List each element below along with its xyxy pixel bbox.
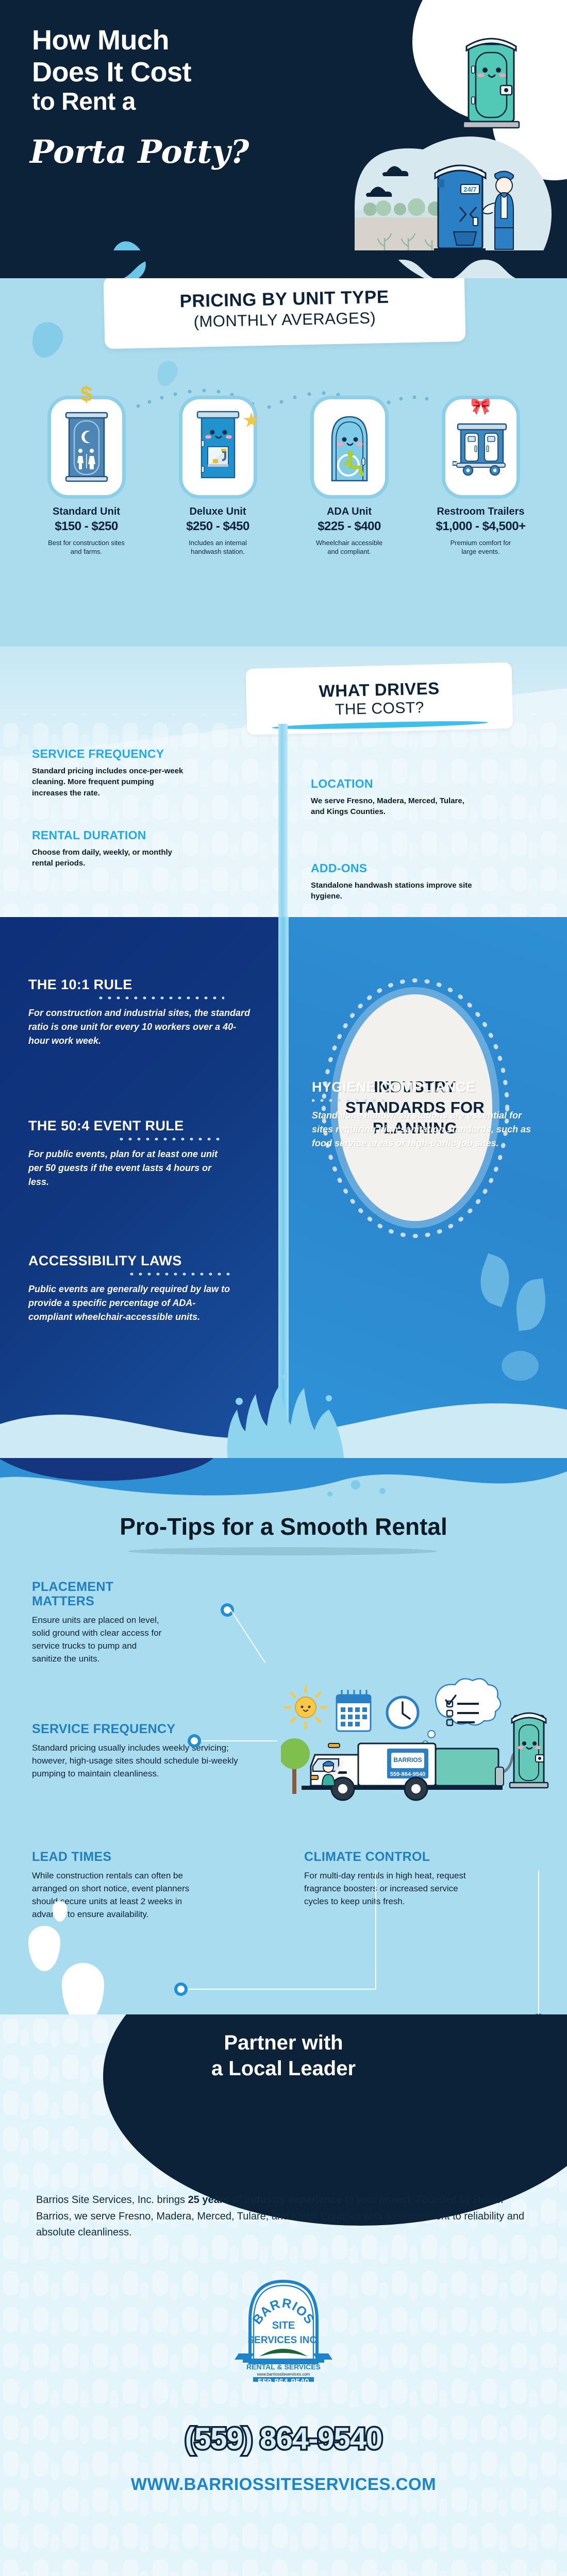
unit-card-ada[interactable]: ADA Unit $225 - $400 Wheelchair accessib… bbox=[286, 396, 412, 556]
cost-driver-title: SERVICE FREQUENCY bbox=[32, 747, 187, 761]
center-pole-decor bbox=[278, 724, 288, 917]
unit-description: Premium comfort for large events. bbox=[442, 538, 520, 556]
company-logo: BARRIOS SITE SERVICES INC. RENTAL & SERV… bbox=[229, 2271, 338, 2384]
unit-price: $1,000 - $4,500+ bbox=[436, 519, 525, 534]
partner-section: Partner with a Local Leader Barrios Site… bbox=[0, 2014, 567, 2576]
standard-title: THE 50:4 EVENT RULE bbox=[28, 1118, 235, 1134]
cost-drivers-section: WHAT DRIVES THE COST? SERVICE FREQUENCY … bbox=[0, 647, 567, 917]
pro-tip-climate-control: CLIMATE CONTROL For multi-day rentals in… bbox=[304, 1850, 479, 1908]
partner-body-bold: 25 years of industry experience bbox=[188, 2194, 342, 2206]
unit-description: Best for construction sites and farms. bbox=[48, 538, 125, 556]
star-icon: ★ bbox=[242, 409, 261, 432]
porta-potty-teal-icon bbox=[460, 30, 522, 133]
website-link[interactable]: WWW.BARRIOSSITESERVICES.COM bbox=[0, 2475, 567, 2494]
clock-icon bbox=[387, 1697, 418, 1728]
standard-title: ACCESSIBILITY LAWS bbox=[28, 1253, 235, 1269]
partner-heading-line1: Partner with bbox=[224, 2031, 343, 2054]
standard-50-4-event-rule: THE 50:4 EVENT RULE For public events, p… bbox=[28, 1118, 235, 1189]
industry-standards-section: INDUSTRY STANDARDS FOR PLANNING THE 10:1… bbox=[0, 917, 567, 1458]
cost-driver-title: ADD-ONS bbox=[311, 861, 481, 875]
green-porta-potty-icon bbox=[495, 1713, 548, 1788]
unit-name: Restroom Trailers bbox=[437, 506, 524, 518]
cost-drivers-heading-line1: WHAT DRIVES bbox=[319, 679, 440, 701]
cost-drivers-heading-line2: THE COST? bbox=[335, 699, 425, 718]
protips-top-bubbles-decor bbox=[0, 1458, 567, 1516]
unit-tile-ada bbox=[310, 396, 389, 499]
connector-dot-service bbox=[188, 1734, 201, 1748]
unit-description: Wheelchair accessible and compliant. bbox=[311, 538, 388, 556]
partner-body-part1: Barrios Site Services, Inc. brings bbox=[36, 2194, 188, 2206]
pricing-heading-card: PRICING BY UNIT TYPE (MONTHLY AVERAGES) bbox=[104, 278, 466, 349]
service-truck-scene-illustration: BARRIOS 559-864-9540 bbox=[281, 1648, 549, 1807]
page-title: How Much Does It Cost to Rent a bbox=[32, 25, 352, 116]
water-splash-decor bbox=[222, 1365, 351, 1458]
svg-text:24/7: 24/7 bbox=[463, 185, 476, 193]
sun-icon bbox=[285, 1687, 326, 1728]
standard-body: For construction and industrial sites, t… bbox=[28, 1006, 255, 1048]
unit-card-standard[interactable]: $ Standard Unit $150 - $250 Best for con… bbox=[23, 396, 149, 556]
drop-decor-1 bbox=[27, 318, 67, 362]
unit-card-trailers[interactable]: 🎀 bbox=[418, 396, 544, 556]
cost-driver-body: We serve Fresno, Madera, Merced, Tulare,… bbox=[311, 795, 476, 818]
dotted-rule-decor bbox=[28, 1273, 235, 1276]
dollar-icon: $ bbox=[80, 382, 92, 406]
unit-tile-standard: $ bbox=[47, 396, 126, 499]
partner-body-text: Barrios Site Services, Inc. brings 25 ye… bbox=[36, 2192, 531, 2241]
logo-line-4: RENTAL & SERVICES bbox=[246, 2363, 321, 2371]
heading-shadow-decor bbox=[128, 1547, 437, 1555]
cost-driver-location: LOCATION We serve Fresno, Madera, Merced… bbox=[311, 777, 476, 818]
service-truck-icon: BARRIOS 559-864-9540 bbox=[302, 1743, 503, 1800]
pro-tip-title: LEAD TIMES bbox=[32, 1850, 202, 1864]
infographic-page: How Much Does It Cost to Rent a Porta Po… bbox=[0, 0, 567, 2576]
standard-10-1-rule: THE 10:1 RULE For construction and indus… bbox=[28, 977, 255, 1048]
deluxe-unit-icon bbox=[193, 409, 243, 486]
partner-heading-line2: a Local Leader bbox=[211, 2057, 356, 2080]
dotted-rule-decor bbox=[28, 996, 224, 999]
barrios-logo-icon: BARRIOS SITE SERVICES INC. RENTAL & SERV… bbox=[229, 2271, 338, 2382]
pro-tip-title: PLACEMENT MATTERS bbox=[32, 1580, 169, 1608]
pricing-section: PRICING BY UNIT TYPE (MONTHLY AVERAGES) bbox=[0, 278, 567, 647]
cost-driver-title: RENTAL DURATION bbox=[32, 828, 176, 842]
logo-line-3: SERVICES INC. bbox=[247, 2335, 319, 2346]
truck-phone-label: 559-864-9540 bbox=[390, 1771, 426, 1777]
calendar-icon bbox=[337, 1690, 371, 1731]
pro-tips-heading: Pro-Tips for a Smooth Rental bbox=[0, 1513, 567, 1540]
pro-tip-title: CLIMATE CONTROL bbox=[304, 1850, 479, 1864]
standard-accessibility-laws: ACCESSIBILITY LAWS Public events are gen… bbox=[28, 1253, 235, 1324]
standard-title: THE 10:1 RULE bbox=[28, 977, 255, 993]
dotted-rule-decor bbox=[312, 1099, 415, 1102]
cost-driver-add-ons: ADD-ONS Standalone handwash stations imp… bbox=[311, 861, 481, 902]
pricing-heading-line1: PRICING BY UNIT TYPE bbox=[179, 287, 389, 312]
standard-unit-icon bbox=[62, 409, 111, 486]
cost-driver-body: Standard pricing includes once-per-week … bbox=[32, 766, 187, 799]
title-line-2: Does It Cost bbox=[32, 57, 352, 89]
cost-driver-body: Choose from daily, weekly, or monthly re… bbox=[32, 847, 176, 869]
unit-name: ADA Unit bbox=[327, 506, 372, 518]
unit-tile-deluxe: ★ bbox=[179, 396, 257, 499]
pro-tip-placement-matters: PLACEMENT MATTERS Ensure units are place… bbox=[32, 1580, 169, 1666]
unit-price: $225 - $400 bbox=[318, 519, 381, 534]
title-line-3: to Rent a bbox=[32, 88, 352, 116]
cost-driver-rental-duration: RENTAL DURATION Choose from daily, weekl… bbox=[32, 828, 176, 869]
heading-underline-decor bbox=[272, 720, 488, 731]
cost-driver-body: Standalone handwash stations improve sit… bbox=[311, 880, 481, 902]
pro-tips-section: Pro-Tips for a Smooth Rental PLACEMENT M… bbox=[0, 1458, 567, 2014]
unit-price: $250 - $450 bbox=[186, 519, 249, 534]
unit-name: Standard Unit bbox=[53, 506, 120, 518]
connector-line-lead-v bbox=[375, 1870, 376, 1990]
restroom-trailer-icon bbox=[453, 414, 509, 481]
svg-text:BARRIOS: BARRIOS bbox=[393, 1756, 422, 1764]
pro-tip-body: For multi-day rentals in high heat, requ… bbox=[304, 1869, 479, 1908]
unit-tile-trailers: 🎀 bbox=[442, 396, 520, 499]
connector-line-lead-h bbox=[188, 1989, 376, 1990]
water-drop-decor-3 bbox=[62, 1963, 104, 2014]
standard-body: Standalone handwash stations are essenti… bbox=[312, 1109, 533, 1150]
checklist-thought-icon bbox=[423, 1679, 501, 1746]
standard-body: For public events, plan for at least one… bbox=[28, 1147, 235, 1189]
connector-line-service bbox=[201, 1740, 277, 1741]
partner-heading: Partner with a Local Leader bbox=[0, 2030, 567, 2082]
logo-phone: 559-864-9540 bbox=[258, 2378, 309, 2382]
standard-body: Public events are generally required by … bbox=[28, 1282, 235, 1324]
pro-tip-service-frequency: SERVICE FREQUENCY Standard pricing usual… bbox=[32, 1722, 254, 1780]
title-line-1: How Much bbox=[32, 25, 352, 57]
dotted-rule-decor bbox=[28, 1138, 224, 1141]
porta-potty-blue-with-worker-icon: 24/7 bbox=[429, 154, 522, 257]
connector-dot-placement bbox=[221, 1603, 234, 1617]
unit-name: Deluxe Unit bbox=[189, 506, 246, 518]
connector-dot-lead bbox=[174, 1982, 188, 1996]
pricing-heading-line2: (MONTHLY AVERAGES) bbox=[193, 309, 376, 331]
pro-tip-body: Ensure units are placed on level, solid … bbox=[32, 1614, 169, 1666]
cost-driver-service-frequency: SERVICE FREQUENCY Standard pricing inclu… bbox=[32, 747, 187, 799]
connector-line-climate bbox=[538, 1870, 539, 2014]
tree-icon bbox=[281, 1738, 310, 1794]
title-script: Porta Potty? bbox=[30, 135, 380, 168]
logo-line-5: www.barriossiteservices.com bbox=[257, 2372, 310, 2377]
cost-driver-title: LOCATION bbox=[311, 777, 476, 791]
standard-title: HYGIENE COMPLIANCE bbox=[312, 1079, 533, 1095]
unit-card-deluxe[interactable]: ★ bbox=[155, 396, 281, 556]
logo-line-2: SITE bbox=[272, 2320, 295, 2331]
water-drop-decor-1 bbox=[28, 1926, 60, 1971]
pro-tip-body: Standard pricing usually includes weekly… bbox=[32, 1741, 254, 1780]
connector-line-placement bbox=[230, 1609, 265, 1663]
pro-tip-title: SERVICE FREQUENCY bbox=[32, 1722, 254, 1736]
unit-price: $150 - $250 bbox=[55, 519, 118, 534]
unit-cards-row: $ Standard Unit $150 - $250 Best for con… bbox=[15, 396, 552, 556]
unit-description: Includes an internal handwash station. bbox=[179, 538, 257, 556]
ada-unit-icon bbox=[325, 409, 374, 486]
bow-icon: 🎀 bbox=[471, 396, 491, 416]
phone-number[interactable]: (559) 864-9540 bbox=[0, 2421, 567, 2456]
standard-hygiene-compliance: HYGIENE COMPLIANCE Standalone handwash s… bbox=[312, 1079, 533, 1150]
hero-section: How Much Does It Cost to Rent a Porta Po… bbox=[0, 0, 567, 278]
hero-wave-divider bbox=[0, 250, 567, 278]
